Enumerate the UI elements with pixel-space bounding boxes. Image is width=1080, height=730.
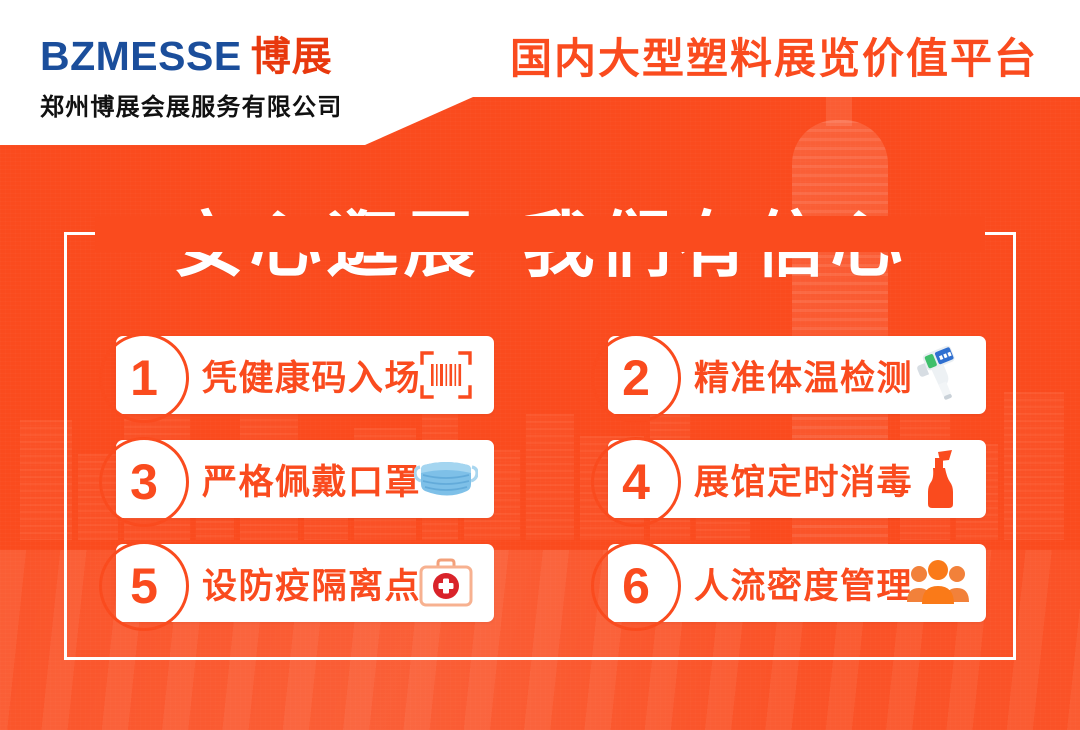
measures-grid: 1 凭健康码入场 bbox=[116, 336, 986, 648]
headline-tagline: 国内大型塑料展览价值平台 bbox=[510, 25, 1038, 86]
logo-english-text: BZMESSE bbox=[40, 33, 242, 80]
people-group-icon bbox=[906, 551, 970, 615]
measure-number-badge: 5 bbox=[99, 541, 189, 631]
barcode-scan-icon bbox=[414, 343, 478, 407]
promotional-banner: BZMESSE 博展 郑州博展会展服务有限公司 国内大型塑料展览价值平台 安心逛… bbox=[0, 0, 1080, 730]
first-aid-kit-icon bbox=[414, 551, 478, 615]
company-full-name: 郑州博展会展服务有限公司 bbox=[40, 87, 342, 122]
logo-chinese-text: 博展 bbox=[251, 24, 333, 82]
measure-number-badge: 2 bbox=[591, 333, 681, 423]
measure-label: 凭健康码入场 bbox=[202, 350, 421, 401]
measure-label: 人流密度管理 bbox=[694, 558, 913, 609]
measure-number-badge: 6 bbox=[591, 541, 681, 631]
measures-row: 3 严格佩戴口罩 bbox=[116, 440, 986, 518]
measure-number-badge: 3 bbox=[99, 437, 189, 527]
measure-number-badge: 1 bbox=[99, 333, 189, 423]
frame-top-notch bbox=[95, 216, 985, 252]
face-mask-icon bbox=[414, 447, 478, 511]
measure-number-badge: 4 bbox=[591, 437, 681, 527]
measure-card-1[interactable]: 1 凭健康码入场 bbox=[116, 336, 494, 414]
measure-label: 精准体温检测 bbox=[694, 350, 913, 401]
measure-label: 展馆定时消毒 bbox=[694, 454, 913, 505]
measure-card-4[interactable]: 4 展馆定时消毒 bbox=[608, 440, 986, 518]
measures-row: 1 凭健康码入场 bbox=[116, 336, 986, 414]
header-band: BZMESSE 博展 郑州博展会展服务有限公司 国内大型塑料展览价值平台 bbox=[0, 0, 1080, 145]
company-logo: BZMESSE 博展 郑州博展会展服务有限公司 bbox=[40, 24, 342, 122]
measure-label: 严格佩戴口罩 bbox=[202, 454, 421, 505]
measure-card-5[interactable]: 5 设防疫隔离点 bbox=[116, 544, 494, 622]
measure-card-2[interactable]: 2 精准体温检测 bbox=[608, 336, 986, 414]
spray-bottle-icon bbox=[906, 447, 970, 511]
measure-label: 设防疫隔离点 bbox=[202, 558, 421, 609]
measure-card-6[interactable]: 6 人流密度管理 bbox=[608, 544, 986, 622]
measures-row: 5 设防疫隔离点 6 人流密度管理 bbox=[116, 544, 986, 622]
measure-card-3[interactable]: 3 严格佩戴口罩 bbox=[116, 440, 494, 518]
thermometer-gun-icon bbox=[906, 343, 970, 407]
